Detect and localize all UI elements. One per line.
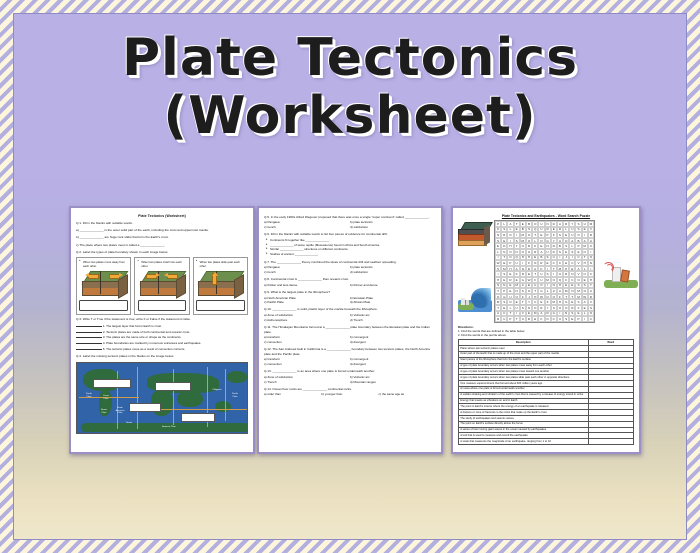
- title-line-1: Plate Tectonics: [14, 32, 686, 84]
- q4-prompt: Q.4. Label the missing tectonic plates i…: [76, 354, 248, 359]
- q13-options-row-2: c) Trench d) Mountain ranges: [264, 380, 436, 385]
- q14-options-row: a) older than b) younger than c) the sam…: [264, 392, 436, 397]
- diagram-convergent-caption: When two plates crash into each other.: [137, 260, 186, 269]
- diagram-divergent: When two plates move away from each othe…: [76, 257, 131, 315]
- map-label-south-american: SouthAmericanPlate: [111, 407, 129, 415]
- q3-prompt: Q.3. Write T or True if the statement is…: [76, 317, 248, 322]
- q14-prompt: Q.14. Ocean floor rocks are ____________…: [264, 387, 436, 392]
- q11-option-c[interactable]: c) convection: [264, 340, 350, 345]
- worksheet-page-2[interactable]: Q.5. In the early 1900s Alfred Wegener p…: [257, 206, 443, 454]
- convergent-plates-icon: [140, 271, 184, 297]
- q11-options-row-2: c) convection d) divergent: [264, 340, 436, 345]
- q7-option-c[interactable]: c) trench: [264, 270, 350, 275]
- diagram-transform-caption: When two plates slide past each other.: [196, 260, 245, 269]
- q9-option-d[interactable]: d) African Plate: [350, 300, 436, 305]
- table-cell-word-input[interactable]: [588, 439, 634, 445]
- q11-prompt: Q.11. The Himalayan Mountains formed at …: [264, 325, 436, 334]
- q2-prompt: Q.2. Label the types of plate boundary s…: [76, 250, 248, 255]
- q14-option-a[interactable]: a) older than: [264, 392, 321, 397]
- q10-option-c[interactable]: c) Asthenosphere: [264, 318, 350, 323]
- q8-options-row: a) thicker and less dense b) thinner and…: [264, 283, 436, 288]
- q10-options-row-2: c) Asthenosphere d) Trench: [264, 318, 436, 323]
- transform-plates-icon: [198, 271, 242, 297]
- table-cell-description: A scale that measures the magnitude of a…: [459, 439, 589, 445]
- map-label-pacific-east: PacificPlate: [227, 393, 243, 398]
- map-answer-box-3[interactable]: [129, 403, 161, 412]
- q1-item-c: c) The place where two plates meet is ca…: [76, 243, 248, 248]
- q9-options-row-2: c) Pacific Plate d) African Plate: [264, 300, 436, 305]
- q10-option-d[interactable]: d) Trench: [350, 318, 436, 323]
- word-search-cell[interactable]: C: [588, 316, 594, 322]
- word-definitions-table: Description Word Place where two tectoni…: [458, 339, 634, 445]
- map-answer-box-2[interactable]: [155, 382, 191, 391]
- q3-statement-1-text: 1. The largest layer that forms Earth is…: [103, 324, 162, 328]
- q3-statement-5: 5. The tectonic plates move as a result …: [76, 346, 248, 352]
- poster-background: Plate Tectonics (Worksheet) Plate Tecton…: [13, 13, 687, 540]
- map-label-scotia: Scotia: [121, 422, 137, 425]
- q7-options-row-2: c) trench d) subduction: [264, 270, 436, 275]
- q5-option-d[interactable]: d) subduction: [350, 225, 436, 230]
- map-label-antarctic: Antarctic Plate: [157, 426, 181, 429]
- worksheet-previews: Plate Tectonics (Worksheet) Q.1. Fill in…: [14, 206, 686, 466]
- worksheet-page-3[interactable]: Plate Tectonics and Earthquakes - Word S…: [451, 206, 641, 454]
- worksheet-1-heading: Plate Tectonics (Worksheet): [76, 214, 248, 218]
- q5-option-c[interactable]: c) trench: [264, 225, 350, 230]
- tectonic-plates-map: PacificPlate CocosPlate NazcaPlate South…: [76, 362, 248, 434]
- diagram-convergent-answer-box[interactable]: [138, 300, 186, 311]
- map-label-nazca: NazcaPlate: [97, 409, 111, 414]
- q14-option-c[interactable]: c) the same age as: [379, 392, 436, 397]
- q6-bullet-4: Studies of ancient ______________.: [270, 252, 436, 257]
- map-label-pacific-west: PacificPlate: [81, 393, 97, 398]
- q13-prompt: Q.13. ______________ is an area where on…: [264, 369, 436, 374]
- direction-2: 2. Find the words in the puzzle above.: [458, 333, 634, 337]
- q5-prompt: Q.5. In the early 1900s Alfred Wegener p…: [264, 215, 436, 220]
- word-search-area: PLATEBOUNDARYSUMOSLEBSQURERLUSEVNROIMOTE…: [458, 220, 634, 323]
- earthquake-damage-icon: [604, 264, 638, 288]
- title-line-2: (Worksheet): [14, 90, 686, 142]
- map-answer-box-1[interactable]: [93, 379, 131, 388]
- map-label-cocos: CocosPlate: [99, 395, 113, 400]
- diagram-transform-answer-box[interactable]: [196, 300, 244, 311]
- word-search-grid[interactable]: PLATEBOUNDARYSUMOSLEBSQURERLUSEVNROIMOTE…: [494, 220, 595, 323]
- table-body: Place where two tectonic plates meetOute…: [459, 346, 634, 445]
- diagram-convergent: When two plates crash into each other.: [134, 257, 189, 315]
- poster-frame: Plate Tectonics (Worksheet) Plate Tecton…: [0, 0, 700, 553]
- worksheet-3-heading: Plate Tectonics and Earthquakes - Word S…: [458, 214, 634, 218]
- q1-prompt: Q.1. Fill in the blanks with suitable wo…: [76, 221, 248, 226]
- q6-prompt: Q.6. Fill in the blanks with suitable wo…: [264, 232, 436, 237]
- q13-option-d[interactable]: d) Mountain ranges: [350, 380, 436, 385]
- q13-option-c[interactable]: c) Trench: [264, 380, 350, 385]
- q9-option-c[interactable]: c) Pacific Plate: [264, 300, 350, 305]
- q9-prompt: Q.9. What is the largest plate in the li…: [264, 290, 436, 295]
- q14-option-b[interactable]: b) younger than: [321, 392, 378, 397]
- q3-statement-3-text: 3. The plates are the same size or shape…: [103, 335, 182, 339]
- map-label-eurasia-small: Philippine: [209, 389, 225, 392]
- worksheet-page-1[interactable]: Plate Tectonics (Worksheet) Q.1. Fill in…: [69, 206, 255, 454]
- crust-cross-section-icon: [458, 222, 490, 248]
- tsunami-wave-icon: [458, 284, 492, 312]
- q1-item-a: a) ______________ is the outer solid par…: [76, 228, 248, 233]
- plate-boundary-diagrams: When two plates move away from each othe…: [76, 257, 248, 315]
- q3-statement-2-text: 2. Tectonic plates are made of both cont…: [103, 330, 190, 334]
- q1-item-b: b) ______________ are huge rock slabs th…: [76, 235, 248, 240]
- q8-option-b[interactable]: b) thinner and dense: [350, 283, 436, 288]
- q7-prompt: Q.7. The ______________ theory combined …: [264, 260, 436, 265]
- q8-prompt: Q.8. Continental crust is ______________…: [264, 277, 436, 282]
- q7-option-d[interactable]: d) subduction: [350, 270, 436, 275]
- q12-option-c[interactable]: c) convection: [264, 362, 350, 367]
- q6-evidence-list: Continents fit together like ___________…: [264, 238, 436, 257]
- q12-option-d[interactable]: d) divergent: [350, 362, 436, 367]
- q10-prompt: Q.10. ______________ is solid, plastic l…: [264, 307, 436, 312]
- q3-statement-4-text: 4. Plate boundaries are marked by numero…: [103, 341, 201, 345]
- diagram-divergent-caption: When two plates move away from each othe…: [79, 260, 128, 269]
- table-row: A scale that measures the magnitude of a…: [459, 439, 634, 445]
- q12-options-row-2: c) convection d) divergent: [264, 362, 436, 367]
- diagram-transform: When two plates slide past each other.: [193, 257, 248, 315]
- q11-option-d[interactable]: d) divergent: [350, 340, 436, 345]
- q3-statement-5-text: 5. The tectonic plates move as a result …: [103, 347, 185, 351]
- q12-prompt: Q.12. The San Andreas fault in Californi…: [264, 347, 436, 356]
- q8-option-a[interactable]: a) thicker and less dense: [264, 283, 350, 288]
- divergent-plates-icon: [82, 271, 126, 297]
- map-answer-box-4[interactable]: [181, 413, 215, 422]
- page-title: Plate Tectonics (Worksheet): [14, 32, 686, 142]
- q5-options-row-2: c) trench d) subduction: [264, 225, 436, 230]
- diagram-divergent-answer-box[interactable]: [79, 300, 127, 311]
